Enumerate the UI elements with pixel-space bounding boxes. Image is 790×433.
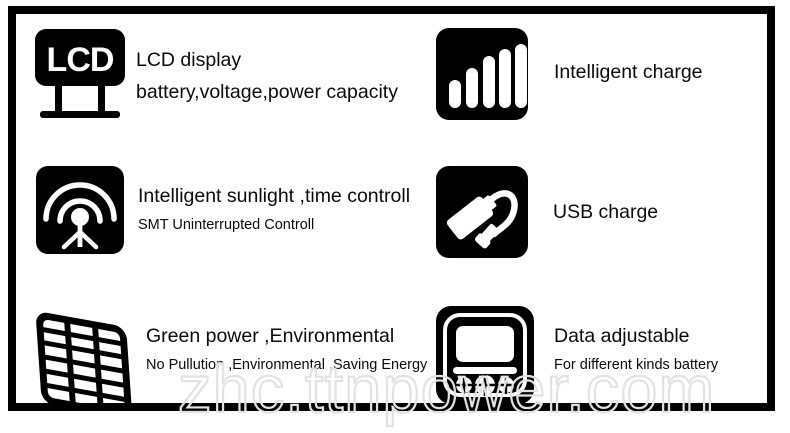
feature-title: LCD display [136,48,398,73]
solar-panel-icon [34,306,138,406]
lcd-display-labels: LCD display battery,voltage,power capaci… [126,28,398,105]
feature-title: Data adjustable [554,324,718,349]
feature-item-usb-charge: USB charge [436,166,658,258]
feature-item-lcd-display: LCD LCD display battery,voltage,power ca… [34,28,398,120]
signal-bars-icon [436,28,528,120]
intelligent-sunlight-labels: Intelligent sunlight ,time controll SMT … [124,166,410,235]
usb-charge-labels: USB charge [528,166,658,225]
feature-poster: LCD LCD display battery,voltage,power ca… [0,0,790,433]
signal-tower-icon [36,166,124,254]
feature-subtitle: SMT Uninterrupted Controll [138,215,410,235]
intelligent-charge-labels: Intelligent charge [528,28,703,85]
feature-title: Green power ,Environmental [146,324,427,349]
feature-item-intelligent-charge: Intelligent charge [436,28,703,120]
feature-title-second-line: battery,voltage,power capacity [136,80,398,105]
svg-text:LCD: LCD [47,41,114,79]
feature-title: Intelligent charge [554,60,703,85]
feature-title: Intelligent sunlight ,time controll [138,184,410,209]
feature-title: USB charge [553,200,658,225]
lcd-monitor-icon: LCD [34,28,126,120]
usb-cable-icon [436,166,528,258]
feature-item-intelligent-sunlight: Intelligent sunlight ,time controll SMT … [36,166,410,254]
site-watermark: zhc.ttnpower.com [178,352,768,428]
